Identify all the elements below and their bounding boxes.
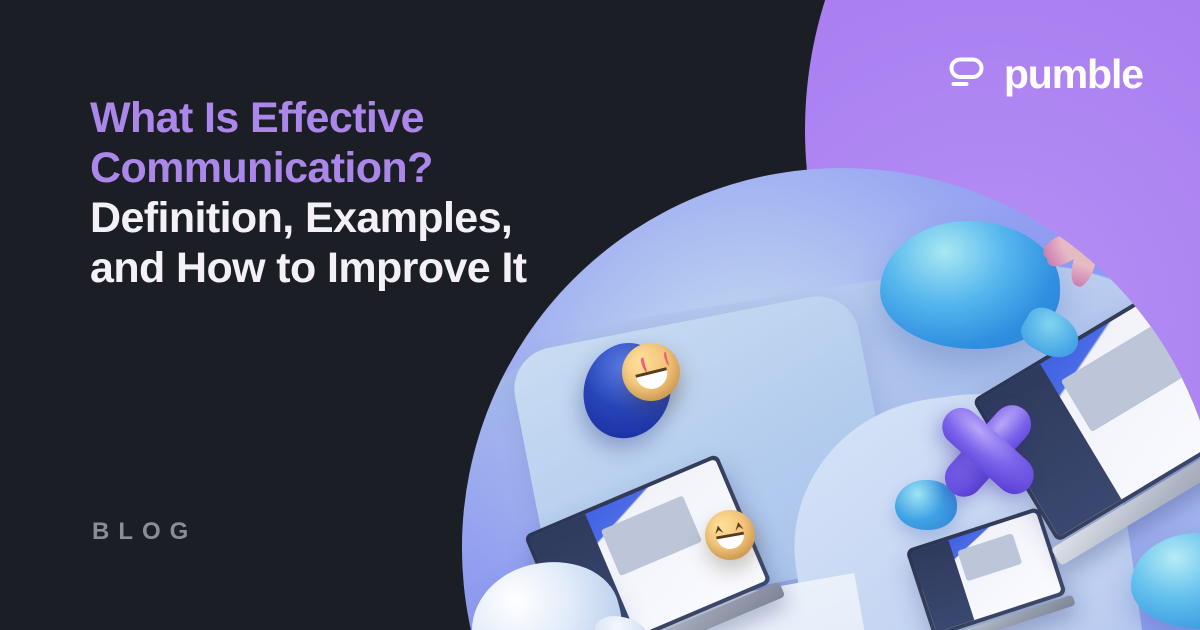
headline-line-3: Definition, Examples, [90,193,650,243]
speech-bubble-teal [880,221,1060,349]
headline-line-2: Communication? [90,143,650,193]
headline-line-4: and How to Improve It [90,243,650,293]
pumble-speech-bubble-icon [948,54,988,94]
page-title: What Is Effective Communication? Definit… [90,93,650,293]
category-label: BLOG [92,518,197,546]
brand-wordmark: pumble [1004,54,1143,94]
headline-line-1: What Is Effective [90,93,650,143]
cover-card: What Is Effective Communication? Definit… [0,0,1200,630]
brand-logo[interactable]: pumble [948,54,1143,94]
